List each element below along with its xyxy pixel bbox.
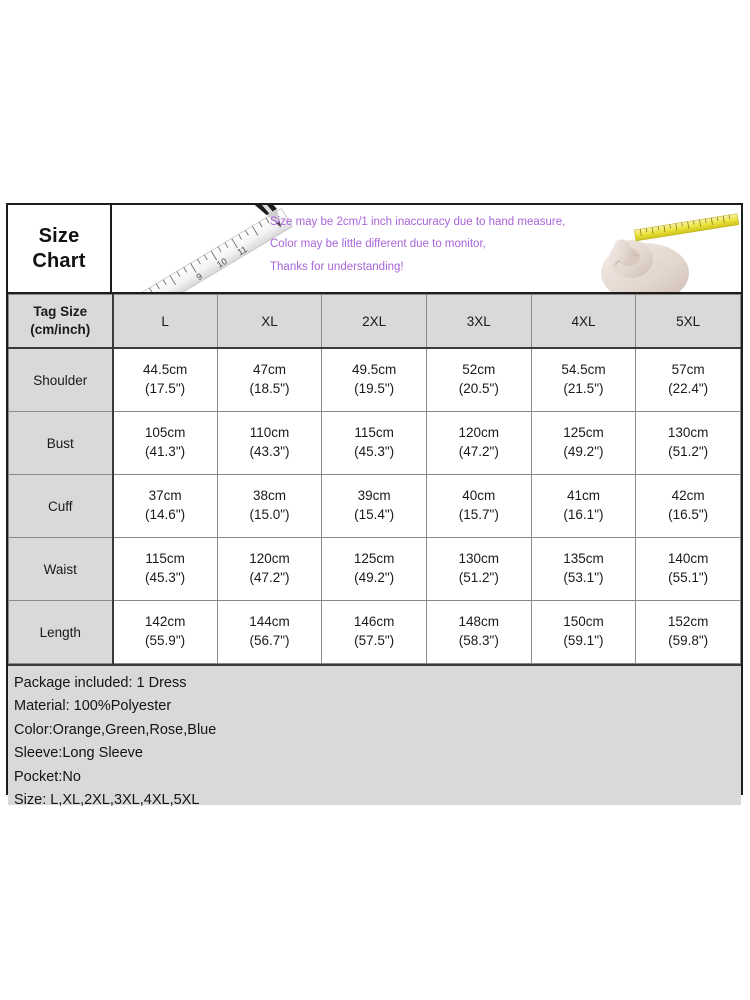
cell-cuff-5xl: 42cm(16.5") <box>636 475 741 538</box>
size-chart-container: Size Chart <box>6 203 743 795</box>
svg-text:10: 10 <box>215 256 229 270</box>
cell-cuff-3xl: 40cm(15.7") <box>426 475 531 538</box>
cell-length-5xl: 152cm(59.8") <box>636 601 741 664</box>
banner-note-list: Size may be 2cm/1 inch inaccuracy due to… <box>270 214 640 281</box>
cell-length-3xl: 148cm(58.3") <box>426 601 531 664</box>
cell-length-4xl: 150cm(59.1") <box>531 601 636 664</box>
cell-waist-l: 115cm(45.3") <box>113 538 218 601</box>
cell-cuff-2xl: 39cm(15.4") <box>322 475 427 538</box>
table-row: Waist 115cm(45.3") 120cm(47.2") 125cm(49… <box>9 538 741 601</box>
table-row: Bust 105cm(41.3") 110cm(43.3") 115cm(45.… <box>9 412 741 475</box>
cell-shoulder-5xl: 57cm(22.4") <box>636 348 741 412</box>
table-row: Shoulder 44.5cm(17.5") 47cm(18.5") 49.5c… <box>9 348 741 412</box>
tag-size-header-line1: Tag Size <box>33 304 87 319</box>
banner-note-2: Color may be little different due to mon… <box>270 236 640 253</box>
cell-bust-5xl: 130cm(51.2") <box>636 412 741 475</box>
cell-bust-2xl: 115cm(45.3") <box>322 412 427 475</box>
cell-bust-3xl: 120cm(47.2") <box>426 412 531 475</box>
banner-note-3: Thanks for understanding! <box>270 259 640 276</box>
tag-size-header-line2: (cm/inch) <box>9 321 112 339</box>
cell-waist-5xl: 140cm(55.1") <box>636 538 741 601</box>
cell-length-2xl: 146cm(57.5") <box>322 601 427 664</box>
page-title-line1: Size <box>39 224 80 248</box>
column-header-xl: XL <box>217 295 322 349</box>
banner-note-1: Size may be 2cm/1 inch inaccuracy due to… <box>270 214 640 231</box>
table-header-row: Tag Size (cm/inch) L XL 2XL 3XL 4XL 5XL <box>9 295 741 349</box>
svg-text:11: 11 <box>236 244 249 257</box>
detail-sleeve: Sleeve:Long Sleeve <box>14 742 735 765</box>
row-label-waist: Waist <box>9 538 113 601</box>
size-chart-title: Size Chart <box>8 205 112 292</box>
row-label-length: Length <box>9 601 113 664</box>
cell-waist-4xl: 135cm(53.1") <box>531 538 636 601</box>
cell-length-l: 142cm(55.9") <box>113 601 218 664</box>
row-label-shoulder: Shoulder <box>9 348 113 412</box>
page-title-line2: Chart <box>32 249 85 273</box>
cell-cuff-xl: 38cm(15.0") <box>217 475 322 538</box>
chart-banner: Size Chart <box>8 205 741 294</box>
cell-shoulder-2xl: 49.5cm(19.5") <box>322 348 427 412</box>
cell-waist-3xl: 130cm(51.2") <box>426 538 531 601</box>
cell-shoulder-xl: 47cm(18.5") <box>217 348 322 412</box>
cell-length-xl: 144cm(56.7") <box>217 601 322 664</box>
column-header-4xl: 4XL <box>531 295 636 349</box>
column-header-l: L <box>113 295 218 349</box>
detail-package: Package included: 1 Dress <box>14 672 735 695</box>
detail-size: Size: L,XL,2XL,3XL,4XL,5XL <box>14 789 735 812</box>
size-measurements-table: Tag Size (cm/inch) L XL 2XL 3XL 4XL 5XL … <box>8 294 741 664</box>
banner-media: 10 11 9 <box>112 205 741 292</box>
cell-cuff-l: 37cm(14.6") <box>113 475 218 538</box>
tag-size-header: Tag Size (cm/inch) <box>9 295 113 349</box>
cell-bust-xl: 110cm(43.3") <box>217 412 322 475</box>
cell-shoulder-l: 44.5cm(17.5") <box>113 348 218 412</box>
cell-waist-xl: 120cm(47.2") <box>217 538 322 601</box>
cell-shoulder-4xl: 54.5cm(21.5") <box>531 348 636 412</box>
detail-material: Material: 100%Polyester <box>14 695 735 718</box>
cell-shoulder-3xl: 52cm(20.5") <box>426 348 531 412</box>
detail-pocket: Pocket:No <box>14 766 735 789</box>
cell-waist-2xl: 125cm(49.2") <box>322 538 427 601</box>
table-row: Cuff 37cm(14.6") 38cm(15.0") 39cm(15.4")… <box>9 475 741 538</box>
row-label-cuff: Cuff <box>9 475 113 538</box>
cell-cuff-4xl: 41cm(16.1") <box>531 475 636 538</box>
svg-text:9: 9 <box>194 271 203 282</box>
column-header-3xl: 3XL <box>426 295 531 349</box>
cell-bust-4xl: 125cm(49.2") <box>531 412 636 475</box>
product-details-block: Package included: 1 Dress Material: 100%… <box>8 664 741 805</box>
row-label-bust: Bust <box>9 412 113 475</box>
cell-bust-l: 105cm(41.3") <box>113 412 218 475</box>
column-header-5xl: 5XL <box>636 295 741 349</box>
detail-color: Color:Orange,Green,Rose,Blue <box>14 719 735 742</box>
column-header-2xl: 2XL <box>322 295 427 349</box>
table-row: Length 142cm(55.9") 144cm(56.7") 146cm(5… <box>9 601 741 664</box>
